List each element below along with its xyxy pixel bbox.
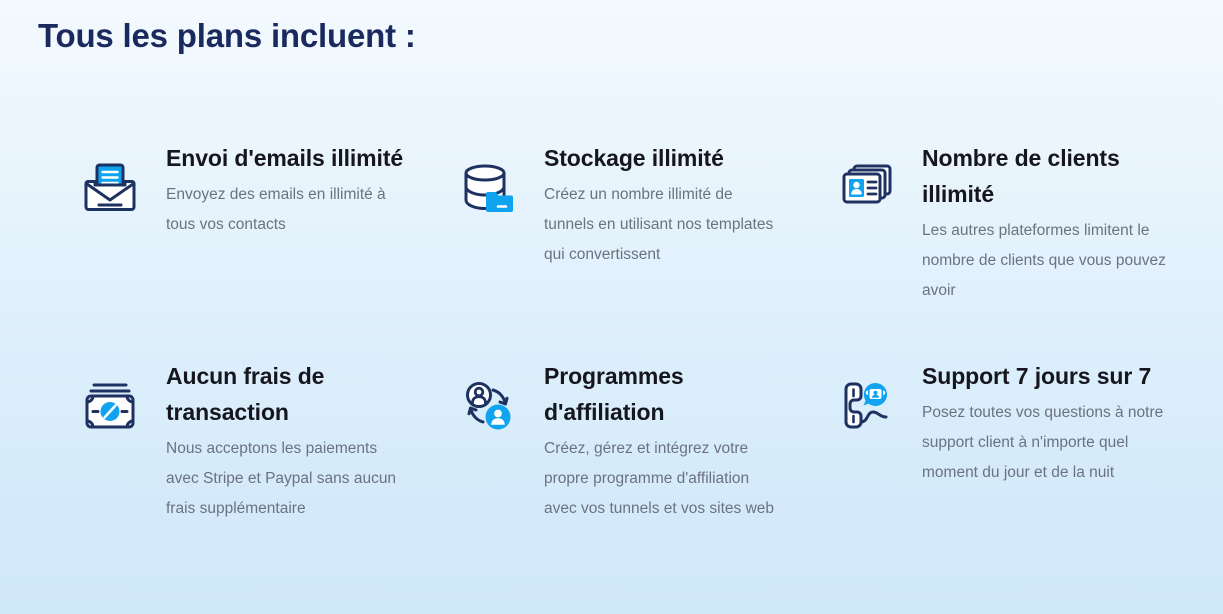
features-grid: Envoi d'emails illimité Envoyez des emai… [0,140,1223,524]
feature-title: Programmes d'affiliation [544,358,786,430]
feature-text: Nombre de clients illimité Les autres pl… [894,140,1166,306]
feature-item: Nombre de clients illimité Les autres pl… [838,140,1194,306]
email-envelope-icon [82,160,138,216]
feature-item: Programmes d'affiliation Créez, gérez et… [460,358,816,524]
database-storage-icon [460,160,516,216]
feature-description: Envoyez des emails en illimité à tous vo… [166,180,406,240]
feature-item: Envoi d'emails illimité Envoyez des emai… [82,140,438,306]
phone-support-chat-icon [838,378,894,434]
feature-title: Stockage illimité [544,140,786,176]
id-cards-clients-icon [838,160,894,216]
feature-title: Envoi d'emails illimité [166,140,406,176]
feature-description: Nous acceptons les paiements avec Stripe… [166,434,406,524]
feature-item: Stockage illimité Créez un nombre illimi… [460,140,816,306]
feature-item: Support 7 jours sur 7 Posez toutes vos q… [838,358,1194,524]
feature-title: Support 7 jours sur 7 [922,358,1166,394]
feature-text: Envoi d'emails illimité Envoyez des emai… [138,140,406,240]
affiliate-users-exchange-icon [460,378,516,434]
feature-title: Aucun frais de transaction [166,358,406,430]
feature-description: Créez, gérez et intégrez votre propre pr… [544,434,786,524]
feature-title: Nombre de clients illimité [922,140,1166,212]
feature-text: Aucun frais de transaction Nous accepton… [138,358,406,524]
feature-text: Stockage illimité Créez un nombre illimi… [516,140,786,270]
feature-description: Les autres plateformes limitent le nombr… [922,216,1166,306]
feature-description: Créez un nombre illimité de tunnels en u… [544,180,786,270]
feature-item: Aucun frais de transaction Nous accepton… [82,358,438,524]
page-title: Tous les plans incluent : [38,14,416,58]
pricing-features-section: Tous les plans incluent : Envoi d [0,0,1223,614]
feature-text: Support 7 jours sur 7 Posez toutes vos q… [894,358,1166,488]
no-transaction-fee-money-icon [82,378,138,434]
feature-description: Posez toutes vos questions à notre suppo… [922,398,1166,488]
feature-text: Programmes d'affiliation Créez, gérez et… [516,358,786,524]
